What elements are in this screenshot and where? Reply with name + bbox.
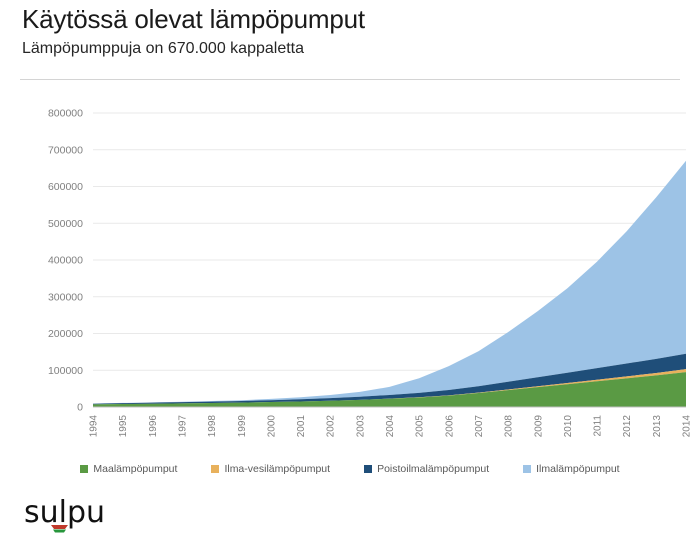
legend-swatch-icon xyxy=(523,465,531,473)
y-axis-tick-label: 0 xyxy=(77,402,83,414)
sulpu-logo-text: sulpu xyxy=(24,495,105,530)
legend-item-ilma-vesil-mp-pumput[interactable]: Ilma-vesilämpöpumput xyxy=(211,463,330,475)
legend-swatch-icon xyxy=(364,465,372,473)
x-axis-tick-label: 2004 xyxy=(385,415,396,438)
legend-label: Ilma-vesilämpöpumput xyxy=(224,463,330,475)
chart-page: Käytössä olevat lämpöpumput Lämpöpumppuj… xyxy=(0,0,700,537)
x-axis-tick-label: 2000 xyxy=(266,415,277,438)
logo-accent-green xyxy=(53,530,66,533)
x-axis-tick-label: 2003 xyxy=(355,415,366,438)
x-axis-tick-label: 2002 xyxy=(326,415,337,438)
x-axis-tick-label: 2008 xyxy=(504,415,515,438)
y-axis-tick-label: 300000 xyxy=(48,291,83,303)
page-title: Käytössä olevat lämpöpumput xyxy=(22,4,365,35)
y-axis-tick-label: 100000 xyxy=(48,365,83,377)
sulpu-logo-mark: sulpu xyxy=(24,494,134,534)
x-axis-tick-label: 2012 xyxy=(622,415,633,438)
area-series-ilmal-mp-pumput xyxy=(93,161,686,404)
x-axis-tick-label: 2009 xyxy=(533,415,544,438)
y-axis-tick-label: 600000 xyxy=(48,181,83,193)
legend-item-poistoilmal-mp-pumput[interactable]: Poistoilmalämpöpumput xyxy=(364,463,489,475)
legend-swatch-icon xyxy=(80,465,88,473)
chart-area: 0100000200000300000400000500000600000700… xyxy=(0,95,700,475)
x-axis-tick-label: 2005 xyxy=(415,415,426,438)
legend-item-ilmal-mp-pumput[interactable]: Ilmalämpöpumput xyxy=(523,463,619,475)
x-axis-tick-label: 2014 xyxy=(682,415,693,438)
legend-label: Ilmalämpöpumput xyxy=(536,463,619,475)
chart-legend: MaalämpöpumputIlma-vesilämpöpumputPoisto… xyxy=(0,458,700,480)
legend-label: Poistoilmalämpöpumput xyxy=(377,463,489,475)
y-axis-tick-label: 700000 xyxy=(48,144,83,156)
x-axis-tick-label: 1998 xyxy=(207,415,218,438)
x-axis-tick-label: 2013 xyxy=(652,415,663,438)
legend-label: Maalämpöpumput xyxy=(93,463,177,475)
x-axis-tick-label: 1997 xyxy=(177,415,188,438)
y-axis-tick-label: 800000 xyxy=(48,108,83,120)
page-subtitle: Lämpöpumppuja on 670.000 kappaletta xyxy=(22,40,304,58)
stacked-area-chart: 0100000200000300000400000500000600000700… xyxy=(0,95,700,475)
sulpu-logo: sulpu xyxy=(24,494,134,534)
header-divider xyxy=(20,79,680,80)
x-axis-tick-label: 2006 xyxy=(444,415,455,438)
legend-item-maal-mp-pumput[interactable]: Maalämpöpumput xyxy=(80,463,177,475)
x-axis-tick-label: 1994 xyxy=(89,415,100,438)
x-axis-tick-label: 2010 xyxy=(563,415,574,438)
y-axis-tick-label: 400000 xyxy=(48,255,83,267)
x-axis-tick-label: 2011 xyxy=(593,415,604,437)
x-axis-tick-label: 1995 xyxy=(118,415,129,438)
x-axis-tick-label: 2001 xyxy=(296,415,307,438)
x-axis-tick-label: 2007 xyxy=(474,415,485,438)
x-axis-tick-label: 1999 xyxy=(237,415,248,438)
y-axis-tick-label: 500000 xyxy=(48,218,83,230)
legend-swatch-icon xyxy=(211,465,219,473)
y-axis-tick-label: 200000 xyxy=(48,328,83,340)
x-axis-tick-label: 1996 xyxy=(148,415,159,438)
